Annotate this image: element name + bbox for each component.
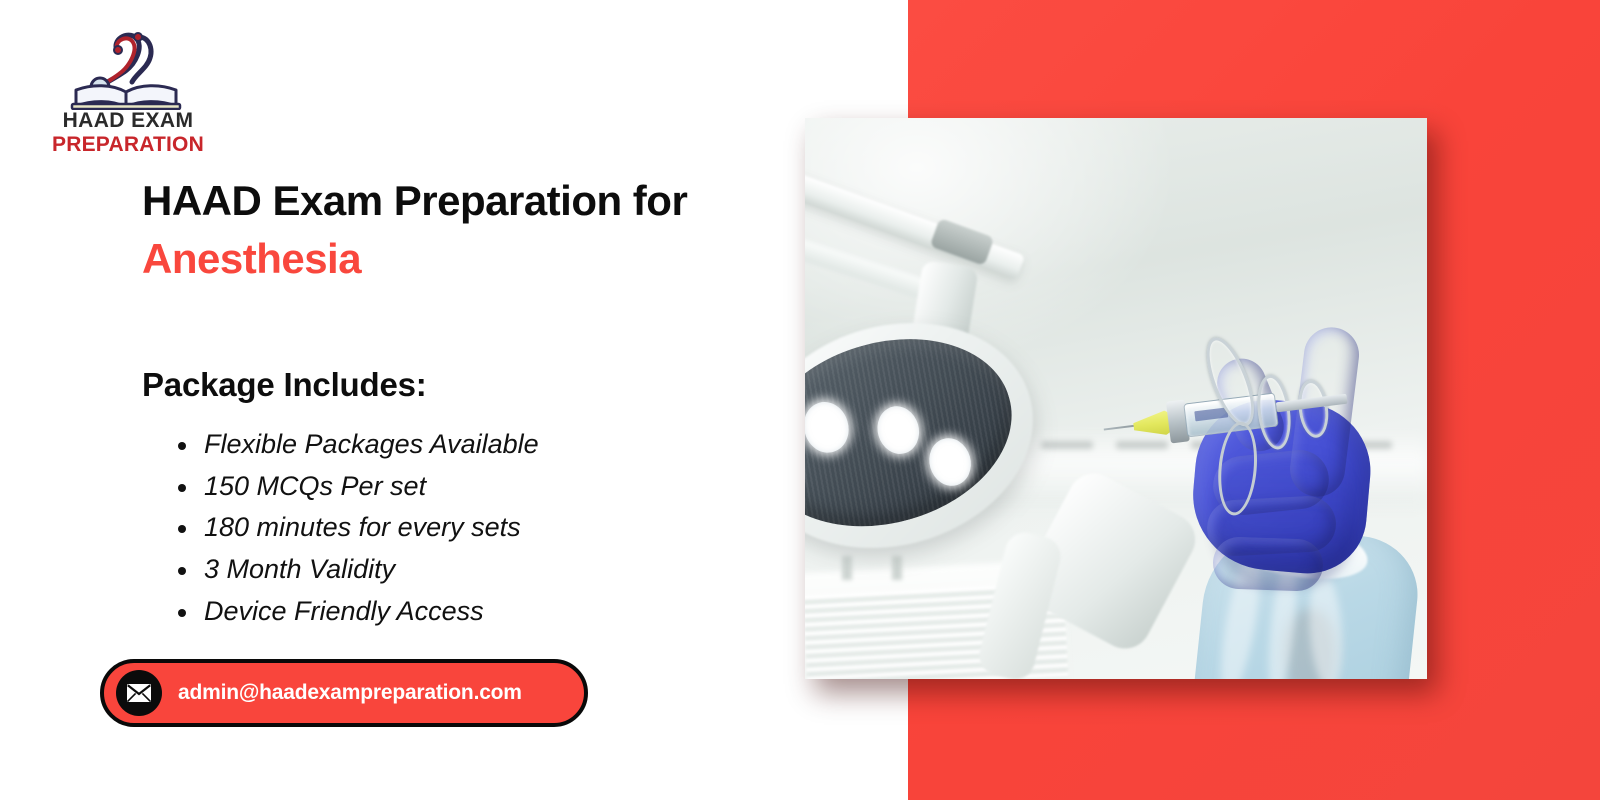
envelope-icon [116,670,162,716]
lamp-bulb [923,432,976,490]
hero-photo-card [805,118,1427,679]
list-item: 150 MCQs Per set [176,466,796,508]
logo-text-primary: HAAD EXAM [52,110,204,131]
package-includes-heading: Package Includes: [142,366,427,404]
brand-logo[interactable]: HAAD EXAM PREPARATION [52,24,204,150]
lamp-bulb [872,401,925,459]
package-feature-list: Flexible Packages Available 150 MCQs Per… [176,424,796,633]
panel-support [892,556,902,580]
headline-specialty: Anesthesia [142,230,802,288]
list-item: Device Friendly Access [176,591,796,633]
list-item: 3 Month Validity [176,549,796,591]
list-item: 180 minutes for every sets [176,507,796,549]
clinic-photo [805,118,1427,679]
list-item: Flexible Packages Available [176,424,796,466]
lamp-bulb [805,397,854,457]
cabinet-handle [1041,441,1093,449]
page-title: HAAD Exam Preparation for Anesthesia [142,172,802,288]
little-finger [1212,536,1324,592]
gloved-hand [1116,320,1427,679]
logo-text-secondary: PREPARATION [52,134,204,155]
email-contact-button[interactable]: admin@haadexampreparation.com [100,659,588,727]
stethoscope-book-icon [62,24,194,110]
promo-banner: HAAD EXAM PREPARATION HAAD Exam Preparat… [0,0,1600,800]
headline-line1: HAAD Exam Preparation for [142,177,687,224]
email-address: admin@haadexampreparation.com [178,681,522,705]
syringe-finger-ring [1253,373,1294,451]
